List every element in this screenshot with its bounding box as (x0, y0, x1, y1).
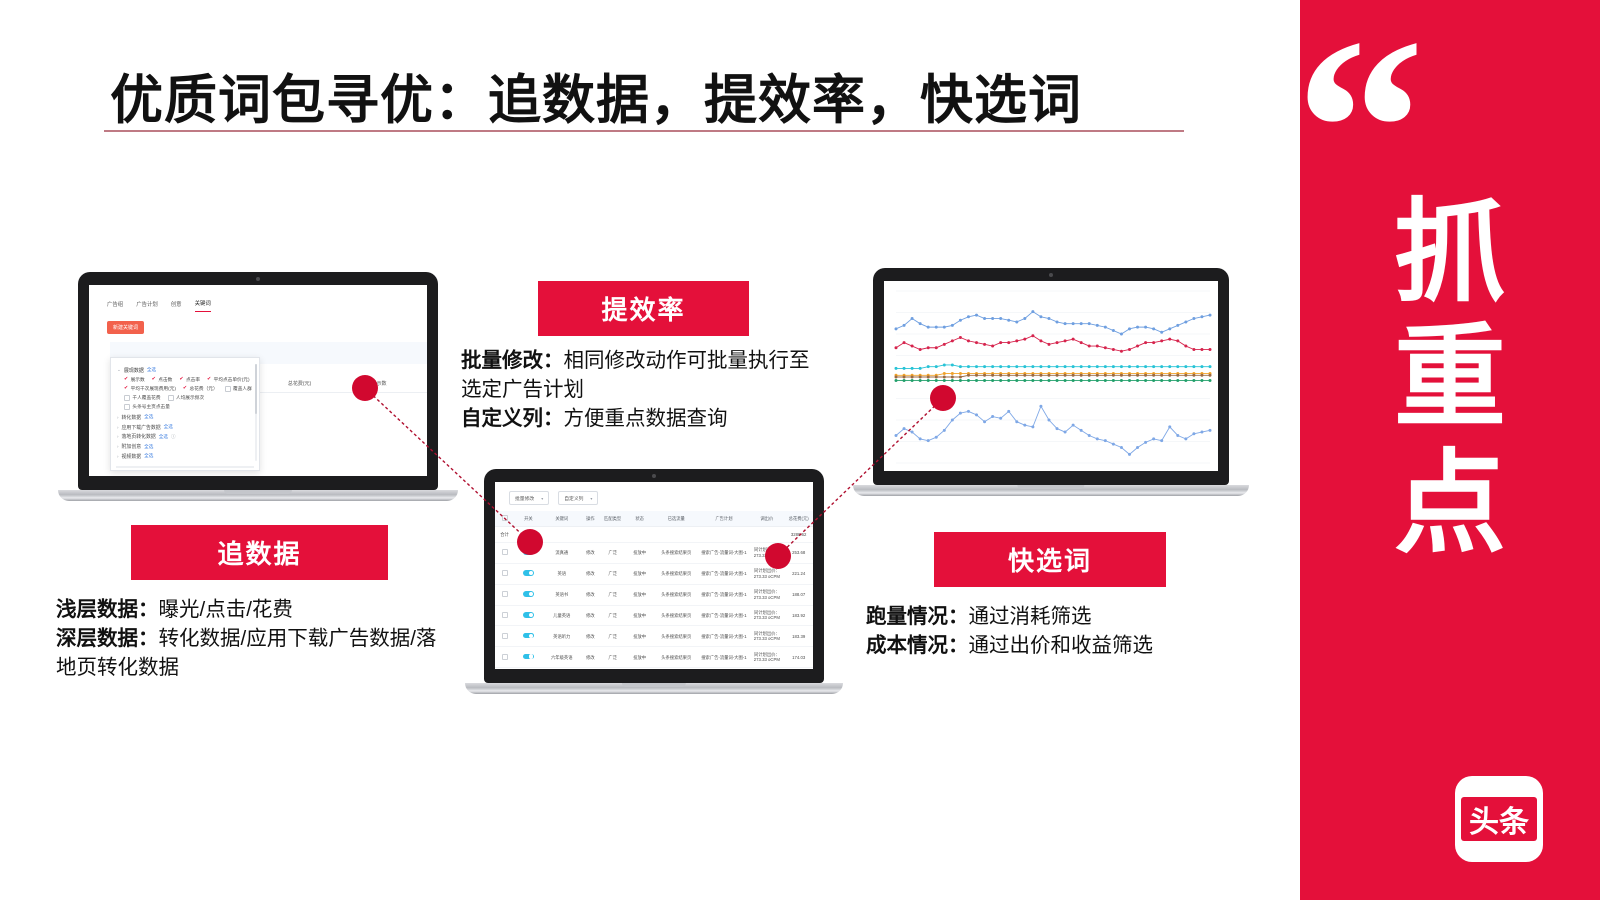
row-toggle[interactable] (514, 584, 543, 605)
checkbox-empty-icon (124, 404, 130, 410)
description-track-data: 浅层数据：曝光/点击/花费 深层数据：转化数据/应用下载广告数据/落地页转化数据 (56, 595, 446, 682)
th-operation: 操作 (581, 511, 600, 527)
checkbox-item[interactable]: ✔点击率 (179, 377, 200, 383)
select-all-link[interactable]: 全选 (159, 434, 168, 440)
checkbox-icon[interactable] (502, 612, 508, 618)
row-keyword: 流真通 (543, 542, 581, 563)
slide-canvas: 优质词包寻优：追数据，提效率，快选词 广告组 广告计划 创意 关键词 新建关键词… (0, 0, 1600, 900)
desc-value: 通过出价和收益筛选 (969, 634, 1154, 657)
row-match-type: 广泛 (600, 626, 625, 647)
vertical-char: 抓 (1300, 190, 1600, 315)
row-bid: 同计划出价：273.33 oCPM (749, 626, 784, 647)
custom-column-area: 自定义列 广告计划 现出价 总花费(元) 展示数 点击数 ⌄ (110, 342, 427, 356)
desc-label: 批量修改： (461, 349, 564, 372)
toggle-switch[interactable] (523, 612, 534, 618)
toggle-switch[interactable] (523, 591, 534, 597)
checkbox-icon[interactable] (502, 591, 508, 597)
desc-line: 浅层数据：曝光/点击/花费 (56, 595, 446, 624)
toutiao-logo: 头条 (1455, 776, 1543, 862)
hotspot-dot-left-screen (352, 375, 378, 401)
desc-line: 成本情况：通过出价和收益筛选 (866, 631, 1226, 660)
dropdown-horizontal-scrollbar[interactable] (116, 466, 254, 468)
chevron-right-icon: › (117, 425, 119, 430)
group-title: 转化数据 (122, 414, 142, 421)
chip-improve-efficiency: 提效率 (538, 281, 749, 336)
row-select[interactable] (495, 605, 514, 626)
batch-edit-label: 批量修改 (515, 495, 534, 502)
batch-edit-select[interactable]: 批量修改 ▾ (509, 491, 549, 505)
custom-column-dropdown[interactable]: ⌄ 展现数据 全选 ✔展示数 ✔点击数 ✔点击率 ✔平均点击单价(元) ✔平均千… (110, 357, 260, 470)
checkbox-empty-icon (168, 395, 174, 401)
laptop-base (853, 485, 1249, 496)
chevron-right-icon: › (117, 444, 119, 449)
laptop-mockup-left: 广告组 广告计划 创意 关键词 新建关键词 自定义列 广告计划 现出价 总花费(… (78, 272, 438, 501)
row-status: 投放中 (625, 626, 654, 647)
dropdown-group-impression[interactable]: ⌄ 展现数据 全选 (117, 367, 253, 374)
row-keyword: 英语听力 (543, 626, 581, 647)
checkbox-item[interactable]: ✔平均千次展现费用(元) (124, 386, 176, 392)
hotspot-dot-center-left (517, 529, 543, 555)
row-ad-plan[interactable]: 搜索广告-流量词-大图-1 (698, 542, 749, 563)
table-row[interactable]: 儿童英语 修改 广泛 投放中 头条搜索结果页 搜索广告-流量词-大图-1 同计划… (495, 605, 813, 626)
checkbox-label: 覆盖人群 (233, 386, 252, 392)
row-ad-plan[interactable]: 搜索广告-流量词-大图-1 (698, 647, 749, 668)
dropdown-group-conversion[interactable]: › 转化数据 全选 (117, 414, 253, 421)
checkbox-item[interactable]: 头条号主页点击量 (124, 404, 170, 410)
table-row[interactable]: 英语 修改 广泛 投放中 头条搜索结果页 搜索广告-流量词-大图-1 同计划出价… (495, 563, 813, 584)
tab-keyword[interactable]: 关键词 (195, 299, 211, 312)
row-traffic: 头条搜索结果页 (654, 605, 699, 626)
checkbox-item[interactable]: 人均展示频次 (168, 395, 205, 401)
right-red-panel: “ 抓 重 点 (1300, 0, 1600, 900)
checkbox-icon[interactable] (502, 515, 508, 521)
chevron-right-icon: › (117, 434, 119, 439)
chip-quick-pick-words: 快选词 (934, 532, 1166, 587)
row-match-type: 广泛 (600, 563, 625, 584)
checkbox-icon[interactable] (502, 570, 508, 576)
th-select[interactable] (495, 511, 514, 527)
desc-label: 自定义列： (461, 407, 564, 430)
dropdown-group-landing-page[interactable]: › 落地页转化数据 全选 ⓘ (117, 433, 253, 440)
row-operation[interactable]: 修改 (581, 605, 600, 626)
impression-checkbox-list: ✔展示数 ✔点击数 ✔点击率 ✔平均点击单价(元) ✔平均千次展现费用(元) ✔… (124, 377, 253, 410)
title-underline (104, 130, 1184, 132)
th-selected-traffic: 已选流量 (654, 511, 699, 527)
screen-two-toolbar: 批量修改 ▾ 自定义列 ▾ (495, 491, 813, 511)
tab-ad-plan[interactable]: 广告计划 (136, 300, 158, 312)
laptop-screen-keyword-table: 批量修改 ▾ 自定义列 ▾ (495, 482, 813, 669)
row-ad-plan[interactable]: 搜索广告-流量词-大图-1 (698, 584, 749, 605)
row-toggle[interactable] (514, 647, 543, 668)
tab-ad-group[interactable]: 广告组 (107, 300, 123, 312)
row-traffic: 头条搜索结果页 (654, 647, 699, 668)
trackpad-notch (1017, 485, 1084, 489)
checkbox-item[interactable]: ✔点击数 (152, 377, 173, 383)
row-match-type: 广泛 (600, 584, 625, 605)
laptop-lid (873, 268, 1229, 485)
row-status: 投放中 (625, 647, 654, 668)
th-total-cost: 总花费(元) (288, 380, 311, 387)
check-icon: ✔ (124, 386, 128, 391)
dropdown-group-extra-creative[interactable]: › 附加创意 全选 (117, 443, 253, 450)
row-cost: 183.39 (784, 626, 813, 647)
keyword-table: 开关 关键词 操作 匹配类型 状态 已选流量 广告计划 调出价 总花费(元) (495, 511, 813, 668)
row-cost: 221.24 (784, 563, 813, 584)
desc-value: 方便重点数据查询 (564, 407, 728, 430)
row-match-type: 广泛 (600, 605, 625, 626)
new-keyword-button[interactable]: 新建关键词 (107, 321, 144, 334)
laptop-base (465, 683, 843, 694)
row-toggle[interactable] (514, 626, 543, 647)
check-icon: ✔ (152, 377, 156, 382)
checkbox-item[interactable]: 覆盖人群 (225, 386, 252, 392)
select-all-link[interactable]: 全选 (147, 367, 156, 373)
info-icon[interactable]: ⓘ (171, 434, 176, 440)
page-title: 优质词包寻优：追数据，提效率，快选词 (110, 58, 1082, 134)
custom-column-select[interactable]: 自定义列 ▾ (558, 491, 598, 505)
summary-label: 合计 (495, 527, 514, 543)
dropdown-scrollbar[interactable] (255, 364, 257, 460)
toggle-switch[interactable] (523, 570, 534, 576)
row-ad-plan[interactable]: 搜索广告-流量词-大图-1 (698, 605, 749, 626)
toutiao-logo-text: 头条 (1461, 797, 1537, 841)
desc-value: 曝光/点击/花费 (159, 598, 293, 621)
row-toggle[interactable] (514, 605, 543, 626)
description-improve-efficiency: 批量修改：相同修改动作可批量执行至选定广告计划 自定义列：方便重点数据查询 (461, 346, 821, 433)
desc-label: 深层数据： (56, 627, 159, 650)
dropdown-group-app-download[interactable]: › 应用下载广告数据 全选 (117, 424, 253, 431)
th-adjust-bid: 调出价 (749, 511, 784, 527)
checkbox-label: 点击数 (158, 377, 172, 383)
check-icon: ✔ (183, 386, 187, 391)
row-select[interactable] (495, 542, 514, 563)
chevron-down-icon: ⌄ (117, 367, 121, 373)
screen-one-tabs: 广告组 广告计划 创意 关键词 (89, 299, 427, 312)
trackpad-notch (224, 490, 292, 494)
hotspot-dot-center-right (765, 543, 791, 569)
row-operation[interactable]: 修改 (581, 647, 600, 668)
checkbox-item[interactable]: ✔展示数 (124, 377, 145, 383)
vertical-char: 点 (1300, 441, 1600, 566)
th-status: 状态 (625, 511, 654, 527)
vertical-char: 重 (1300, 315, 1600, 440)
table-row[interactable]: 英语书 修改 广泛 投放中 头条搜索结果页 搜索广告-流量词-大图-1 同计划出… (495, 584, 813, 605)
laptop-screen-custom-columns: 广告组 广告计划 创意 关键词 新建关键词 自定义列 广告计划 现出价 总花费(… (89, 285, 427, 476)
select-all-link[interactable]: 全选 (144, 444, 153, 450)
desc-line: 批量修改：相同修改动作可批量执行至选定广告计划 (461, 346, 821, 404)
checkbox-label: 总花费（元） (190, 386, 218, 392)
table-row[interactable]: 英语听力 修改 广泛 投放中 头条搜索结果页 搜索广告-流量词-大图-1 同计划… (495, 626, 813, 647)
dropdown-group-video[interactable]: › 视频数据 全选 (117, 453, 253, 460)
check-icon: ✔ (124, 377, 128, 382)
group-title: 附加创意 (122, 443, 142, 450)
checkbox-item[interactable]: 千人覆盖花费 (124, 395, 161, 401)
checkbox-label: 点击率 (186, 377, 200, 383)
th-keyword: 关键词 (543, 511, 581, 527)
row-cost: 183.92 (784, 605, 813, 626)
checkbox-label: 平均点击单价(元) (214, 377, 250, 383)
checkbox-label: 平均千次展现费用(元) (131, 386, 176, 392)
checkbox-item[interactable]: ✔平均点击单价(元) (207, 377, 250, 383)
check-icon: ✔ (179, 377, 183, 382)
row-select[interactable] (495, 647, 514, 668)
webcam-icon (1049, 273, 1053, 277)
tab-creative[interactable]: 创意 (171, 300, 182, 312)
laptop-base (58, 490, 458, 501)
row-bid: 同计划出价：273.33 oCPM (749, 647, 784, 668)
laptop-mockup-right (873, 268, 1229, 496)
row-cost: 188.07 (784, 584, 813, 605)
select-all-link[interactable]: 全选 (144, 414, 153, 420)
row-operation[interactable]: 修改 (581, 563, 600, 584)
select-all-link[interactable]: 全选 (164, 424, 173, 430)
checkbox-icon[interactable] (502, 654, 508, 660)
row-select[interactable] (495, 563, 514, 584)
row-ad-plan[interactable]: 搜索广告-流量词-大图-1 (698, 563, 749, 584)
row-traffic: 头条搜索结果页 (654, 542, 699, 563)
chevron-right-icon: › (117, 415, 119, 420)
laptop-lid: 广告组 广告计划 创意 关键词 新建关键词 自定义列 广告计划 现出价 总花费(… (78, 272, 438, 490)
row-toggle[interactable] (514, 563, 543, 584)
group-title: 展现数据 (124, 367, 144, 374)
desc-label: 跑量情况： (866, 605, 969, 628)
checkbox-item[interactable]: ✔总花费（元） (183, 386, 218, 392)
laptop-screen-trend-chart (884, 281, 1218, 471)
check-icon: ✔ (207, 377, 211, 382)
checkbox-label: 展示数 (131, 377, 145, 383)
table-header-row: 开关 关键词 操作 匹配类型 状态 已选流量 广告计划 调出价 总花费(元) (495, 511, 813, 527)
th-match-type: 匹配类型 (600, 511, 625, 527)
row-select[interactable] (495, 626, 514, 647)
row-operation[interactable]: 修改 (581, 584, 600, 605)
row-status: 投放中 (625, 584, 654, 605)
desc-line: 深层数据：转化数据/应用下载广告数据/落地页转化数据 (56, 624, 446, 682)
row-operation[interactable]: 修改 (581, 626, 600, 647)
select-all-link[interactable]: 全选 (144, 453, 153, 459)
row-traffic: 头条搜索结果页 (654, 626, 699, 647)
webcam-icon (652, 474, 656, 478)
row-status: 投放中 (625, 605, 654, 626)
chevron-right-icon: › (117, 454, 119, 459)
row-bid: 同计划出价：273.33 oCPM (749, 605, 784, 626)
description-quick-pick-words: 跑量情况：通过消耗筛选 成本情况：通过出价和收益筛选 (866, 602, 1226, 660)
laptop-mockup-center: 批量修改 ▾ 自定义列 ▾ (484, 469, 824, 694)
row-match-type: 广泛 (600, 542, 625, 563)
th-switch: 开关 (514, 511, 543, 527)
row-keyword: 儿童英语 (543, 605, 581, 626)
desc-line: 跑量情况：通过消耗筛选 (866, 602, 1226, 631)
webcam-icon (256, 277, 260, 281)
trend-line-chart (884, 281, 1218, 471)
checkbox-icon[interactable] (502, 633, 508, 639)
checkbox-label: 千人覆盖花费 (132, 395, 160, 401)
table-row[interactable]: 六年级英语 修改 广泛 投放中 头条搜索结果页 搜索广告-流量词-大图-1 同计… (495, 647, 813, 668)
row-status: 投放中 (625, 542, 654, 563)
desc-label: 成本情况： (866, 634, 969, 657)
custom-column-label: 自定义列 (564, 495, 583, 502)
hotspot-dot-right-screen (930, 385, 956, 411)
desc-value: 通过消耗筛选 (969, 605, 1092, 628)
row-match-type: 广泛 (600, 647, 625, 668)
desc-label: 浅层数据： (56, 598, 159, 621)
vertical-headline: 抓 重 点 (1300, 190, 1600, 566)
checkbox-label: 人均展示频次 (176, 395, 204, 401)
row-bid: 同计划出价：273.33 oCPM (749, 584, 784, 605)
row-traffic: 头条搜索结果页 (654, 563, 699, 584)
row-traffic: 头条搜索结果页 (654, 584, 699, 605)
checkbox-icon[interactable] (502, 549, 508, 555)
toggle-switch[interactable] (523, 633, 534, 639)
row-ad-plan[interactable]: 搜索广告-流量词-大图-1 (698, 626, 749, 647)
th-ad-plan: 广告计划 (698, 511, 749, 527)
checkbox-empty-icon (124, 395, 130, 401)
group-title: 视频数据 (122, 453, 142, 460)
checkbox-empty-icon (225, 386, 231, 392)
row-select[interactable] (495, 584, 514, 605)
chevron-down-icon: ▾ (541, 496, 543, 501)
row-status: 投放中 (625, 563, 654, 584)
row-keyword: 英语书 (543, 584, 581, 605)
row-keyword: 英语 (543, 563, 581, 584)
group-title: 应用下载广告数据 (122, 424, 161, 431)
th-total-cost: 总花费(元) (784, 511, 813, 527)
toggle-switch[interactable] (523, 654, 534, 660)
row-keyword: 六年级英语 (543, 647, 581, 668)
desc-line: 自定义列：方便重点数据查询 (461, 404, 821, 433)
group-title: 落地页转化数据 (122, 433, 156, 440)
checkbox-label: 头条号主页点击量 (132, 404, 170, 410)
trackpad-notch (622, 683, 686, 687)
laptop-lid: 批量修改 ▾ 自定义列 ▾ (484, 469, 824, 683)
chevron-down-icon: ▾ (590, 496, 592, 501)
row-operation[interactable]: 修改 (581, 542, 600, 563)
summary-total-cost: 3288.62 (784, 527, 813, 543)
row-cost: 174.03 (784, 647, 813, 668)
chip-track-data: 追数据 (131, 525, 388, 580)
